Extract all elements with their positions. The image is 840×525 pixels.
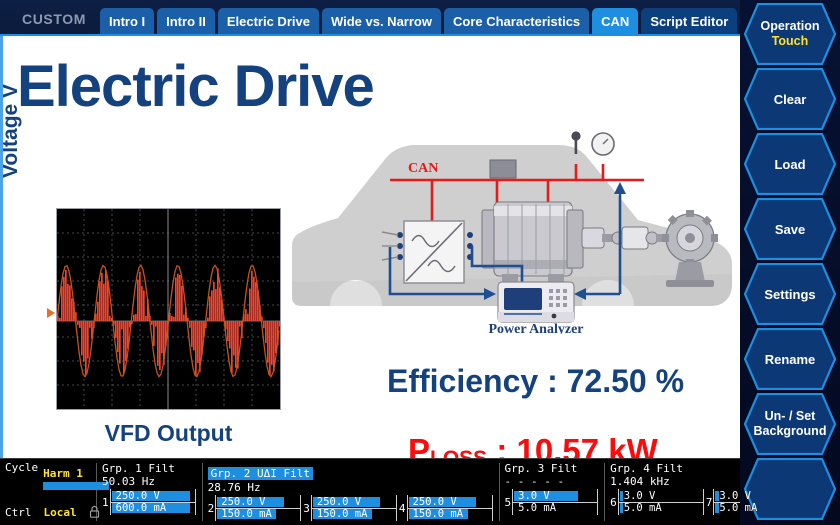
channel-list: 53.0 V5.0 mA (505, 489, 601, 515)
efficiency-readout: Efficiency : 72.50 % (387, 363, 684, 400)
channel-current-bar: 600.0 mA (111, 502, 195, 514)
group-frequency: 28.76 Hz (208, 481, 495, 495)
channel-bars: 250.0 V600.0 mA (110, 489, 196, 515)
function-key-rename[interactable]: Rename (744, 328, 836, 390)
status-bar: Cycle Harm 1 Ctrl Local Grp. 1 Filt50.03 (0, 458, 740, 525)
ctrl-label: Ctrl (5, 507, 32, 519)
function-key-empty[interactable] (744, 458, 836, 520)
status-group-2: Grp. 2 UΔI Filt28.76 Hz2250.0 V150.0 mA3… (203, 459, 499, 525)
channel-6[interactable]: 63.0 V5.0 mA (610, 489, 704, 515)
channel-number: 1 (102, 496, 109, 509)
efficiency-value: 72.50 % (567, 363, 684, 399)
channel-2[interactable]: 2250.0 V150.0 mA (208, 495, 302, 521)
tab-electric-drive[interactable]: Electric Drive (218, 8, 319, 36)
group-header[interactable]: Grp. 2 UΔI Filt (208, 467, 313, 480)
function-key-primary-text: Load (774, 157, 805, 172)
cycle-label: Cycle (5, 462, 38, 474)
channel-current-bar: 5.0 mA (513, 502, 597, 514)
function-key-label: Un- / SetBackground (744, 393, 836, 455)
channel-voltage-bar: 250.0 V (312, 496, 396, 508)
channel-bars: 250.0 V150.0 mA (311, 495, 397, 521)
page-title: Electric Drive (17, 58, 374, 116)
group-header[interactable]: Grp. 1 Filt (102, 462, 198, 475)
function-key-label: Clear (744, 68, 836, 130)
channel-voltage-bar: 250.0 V (216, 496, 300, 508)
channel-current-bar: 150.0 mA (408, 508, 492, 520)
scope-y-axis-label: Voltage V (0, 41, 23, 221)
channel-voltage-value: 3.0 V (619, 490, 656, 502)
tab-intro-ii[interactable]: Intro II (157, 8, 215, 36)
channel-current-value: 5.0 mA (714, 502, 757, 514)
power-analyzer-label: Power Analyzer (489, 322, 584, 334)
channel-voltage-value: 250.0 V (216, 496, 265, 508)
function-key-sidebar: OperationTouchClearLoadSaveSettingsRenam… (740, 0, 840, 525)
function-key-un-set[interactable]: Un- / SetBackground (744, 393, 836, 455)
channel-3[interactable]: 3250.0 V150.0 mA (303, 495, 397, 521)
function-key-clear[interactable]: Clear (744, 68, 836, 130)
channel-voltage-value: 3.0 V (714, 490, 751, 502)
function-key-label: Settings (744, 263, 836, 325)
channel-current-value: 5.0 mA (619, 502, 662, 514)
channel-number: 2 (208, 502, 215, 515)
status-cycle-section: Cycle Harm 1 Ctrl Local (0, 459, 96, 525)
function-key-settings[interactable]: Settings (744, 263, 836, 325)
channel-current-value: 600.0 mA (111, 502, 167, 514)
trigger-marker (47, 308, 55, 318)
channel-bars: 250.0 V150.0 mA (407, 495, 493, 521)
power-loss-label: P (408, 432, 430, 458)
channel-current-value: 150.0 mA (216, 508, 272, 520)
channel-number: 7 (706, 496, 713, 509)
function-key-secondary-text: Background (754, 424, 827, 439)
power-loss-value: 10.57 kW (517, 432, 658, 458)
function-key-operation[interactable]: OperationTouch (744, 3, 836, 65)
group-header[interactable]: Grp. 3 Filt (505, 462, 601, 475)
channel-bars: 250.0 V150.0 mA (215, 495, 301, 521)
status-group-1: Grp. 1 Filt50.03 Hz1250.0 V600.0 mA (97, 459, 202, 525)
channel-5[interactable]: 53.0 V5.0 mA (505, 489, 599, 515)
function-key-primary-text: Rename (765, 352, 816, 367)
power-analyzer-device (498, 282, 574, 322)
function-key-label (744, 458, 836, 520)
tab-can[interactable]: CAN (592, 8, 638, 36)
custom-label: CUSTOM (8, 11, 100, 36)
channel-list: 1250.0 V600.0 mA (102, 489, 198, 515)
channel-number: 5 (505, 496, 512, 509)
channel-bars: 3.0 V5.0 mA (618, 489, 704, 515)
application-window: CUSTOM Intro IIntro IIElectric DriveWide… (0, 0, 840, 525)
power-loss-readout: PLOSS : 10.57 kW (408, 432, 658, 458)
cycle-value[interactable]: Harm 1 (43, 467, 83, 480)
group-frequency: - - - - - (505, 475, 601, 489)
function-key-primary-text: Clear (774, 92, 807, 107)
channel-voltage-value: 3.0 V (513, 490, 550, 502)
channel-voltage-value: 250.0 V (408, 496, 457, 508)
channel-4[interactable]: 4250.0 V150.0 mA (399, 495, 493, 521)
channel-current-bar: 150.0 mA (312, 508, 396, 520)
function-key-save[interactable]: Save (744, 198, 836, 260)
channel-voltage-bar: 250.0 V (408, 496, 492, 508)
channel-current-value: 150.0 mA (408, 508, 464, 520)
channel-voltage-bar: 3.0 V (619, 490, 703, 502)
efficiency-label: Efficiency : (387, 363, 567, 399)
channel-current-value: 150.0 mA (312, 508, 368, 520)
ctrl-row: Ctrl Local (5, 503, 92, 522)
channel-bars: 3.0 V5.0 mA (512, 489, 598, 515)
function-key-primary-text: Operation (760, 19, 819, 34)
function-key-label: Load (744, 133, 836, 195)
scope-caption: VFD Output (56, 420, 281, 447)
function-key-label: Save (744, 198, 836, 260)
channel-voltage-value: 250.0 V (111, 490, 160, 502)
channel-current-bar: 5.0 mA (619, 502, 703, 514)
drivetrain-diagram: CAN (286, 114, 736, 334)
function-key-primary-text: Un- / Set (765, 409, 816, 424)
channel-voltage-value: 250.0 V (312, 496, 361, 508)
power-loss-separator: : (487, 432, 516, 458)
tab-wide-vs-narrow[interactable]: Wide vs. Narrow (322, 8, 441, 36)
function-key-primary-text: Settings (764, 287, 815, 302)
channel-current-bar: 150.0 mA (216, 508, 300, 520)
content-stage: Electric Drive CAN (0, 36, 740, 458)
power-loss-subscript: LOSS (430, 447, 487, 458)
channel-number: 4 (399, 502, 406, 515)
channel-number: 6 (610, 496, 617, 509)
channel-1[interactable]: 1250.0 V600.0 mA (102, 489, 196, 515)
channel-number: 3 (303, 502, 310, 515)
tab-intro-i[interactable]: Intro I (100, 8, 154, 36)
function-key-label: Rename (744, 328, 836, 390)
function-key-secondary-text: Touch (772, 34, 809, 49)
channel-list: 2250.0 V150.0 mA3250.0 V150.0 mA4250.0 V… (208, 495, 495, 521)
tab-core-characteristics[interactable]: Core Characteristics (444, 8, 589, 36)
function-key-load[interactable]: Load (744, 133, 836, 195)
channel-voltage-bar: 3.0 V (513, 490, 597, 502)
ctrl-value[interactable]: Local (44, 507, 77, 519)
cycle-row: Cycle Harm 1 (5, 462, 92, 490)
channel-current-value: 5.0 mA (513, 502, 556, 514)
can-bus-label: CAN (408, 161, 438, 176)
scope-display[interactable] (56, 208, 281, 410)
function-key-primary-text: Save (775, 222, 805, 237)
group-frequency: 50.03 Hz (102, 475, 198, 489)
channel-voltage-bar: 250.0 V (111, 490, 195, 502)
status-group-3: Grp. 3 Filt- - - - -53.0 V5.0 mA (500, 459, 605, 525)
tab-script-editor[interactable]: Script Editor (641, 8, 737, 36)
function-key-label: OperationTouch (744, 3, 836, 65)
tab-bar: CUSTOM Intro IIntro IIElectric DriveWide… (0, 0, 740, 36)
